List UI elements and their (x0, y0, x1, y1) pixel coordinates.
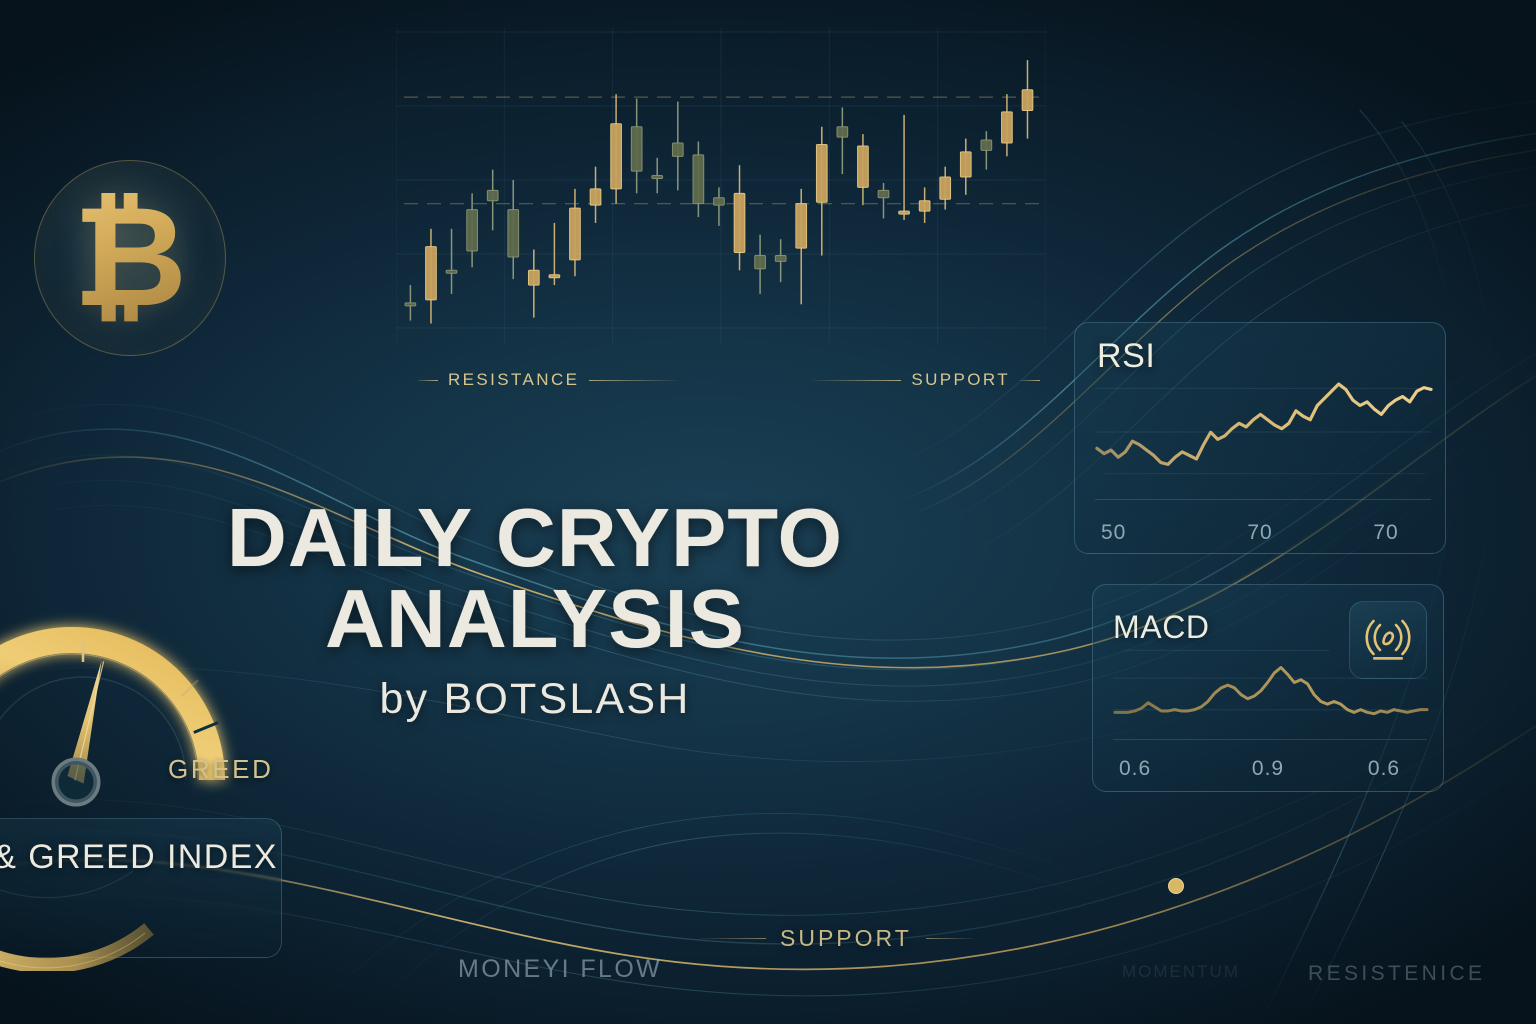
fear-greed-arc-stroke (0, 879, 149, 966)
support-resistance-row: RESISTANCE SUPPORT (396, 366, 1046, 396)
rsi-chart-svg (1075, 323, 1445, 553)
resistance-label-group: RESISTANCE (418, 370, 677, 390)
macd-tick-row: 0.6 0.9 0.6 (1093, 757, 1443, 781)
support-label-group: SUPPORT (813, 370, 1040, 390)
byline-brand: BOTSLASH (443, 675, 690, 723)
byline: by BOTSLASH (0, 675, 1070, 724)
macd-signal-button[interactable] (1349, 601, 1427, 679)
bitcoin-icon: ₿ (34, 160, 226, 356)
macd-panel[interactable]: MACD 0.6 0.9 0.6 (1092, 584, 1444, 792)
bottom-support-dash-right (926, 938, 974, 939)
rsi-tick-2: 70 (1327, 521, 1445, 545)
bottom-support-group: SUPPORT (700, 925, 974, 952)
bottom-resistance-label: RESISTENICE (1308, 962, 1485, 986)
bottom-support-dash-left (700, 938, 766, 939)
candlestick-chart (396, 28, 1046, 358)
fear-greed-arc-faint (0, 871, 133, 898)
resistance-label: RESISTANCE (448, 370, 579, 390)
money-flow-label: MONEYI FLOW (458, 955, 662, 984)
support-label: SUPPORT (911, 370, 1010, 390)
bottom-support-label: SUPPORT (780, 925, 912, 952)
gauge-label-greed: GREED (168, 754, 273, 785)
byline-prefix: by (380, 675, 430, 723)
rsi-tick-0: 50 (1075, 521, 1193, 545)
fear-greed-card-arc (0, 871, 283, 971)
fear-greed-arc-highlight (0, 885, 145, 968)
poster-canvas: RESISTANCE SUPPORT ₿ (0, 0, 1536, 1024)
macd-tick-0: 0.6 (1093, 757, 1211, 781)
title-block: DAILY CRYPTO ANALYSIS by BOTSLASH (0, 498, 1070, 724)
macd-tick-1: 0.9 (1211, 757, 1325, 781)
rsi-tick-row: 50 70 70 (1075, 521, 1445, 545)
macd-tick-2: 0.6 (1325, 757, 1443, 781)
rsi-tick-1: 70 (1193, 521, 1327, 545)
title-line-2: ANALYSIS (0, 579, 1070, 660)
title-line-1: DAILY CRYPTO (0, 498, 1070, 579)
support-dash-left (813, 380, 901, 381)
signal-broadcast-icon (1360, 615, 1416, 665)
fear-greed-index-card[interactable]: FEAR & GREED INDEX (0, 818, 282, 958)
bitcoin-badge: ₿ (34, 160, 226, 356)
support-dash-right (1020, 380, 1040, 381)
resistance-dash-left (418, 380, 438, 381)
gauge-hub-fill (55, 761, 97, 803)
rsi-panel[interactable]: RSI 50 70 70 (1074, 322, 1446, 554)
candlestick-chart-svg (396, 28, 1046, 358)
resistance-dash-right (589, 380, 677, 381)
momentum-ghost-label: MOMENTUM (1122, 962, 1240, 982)
